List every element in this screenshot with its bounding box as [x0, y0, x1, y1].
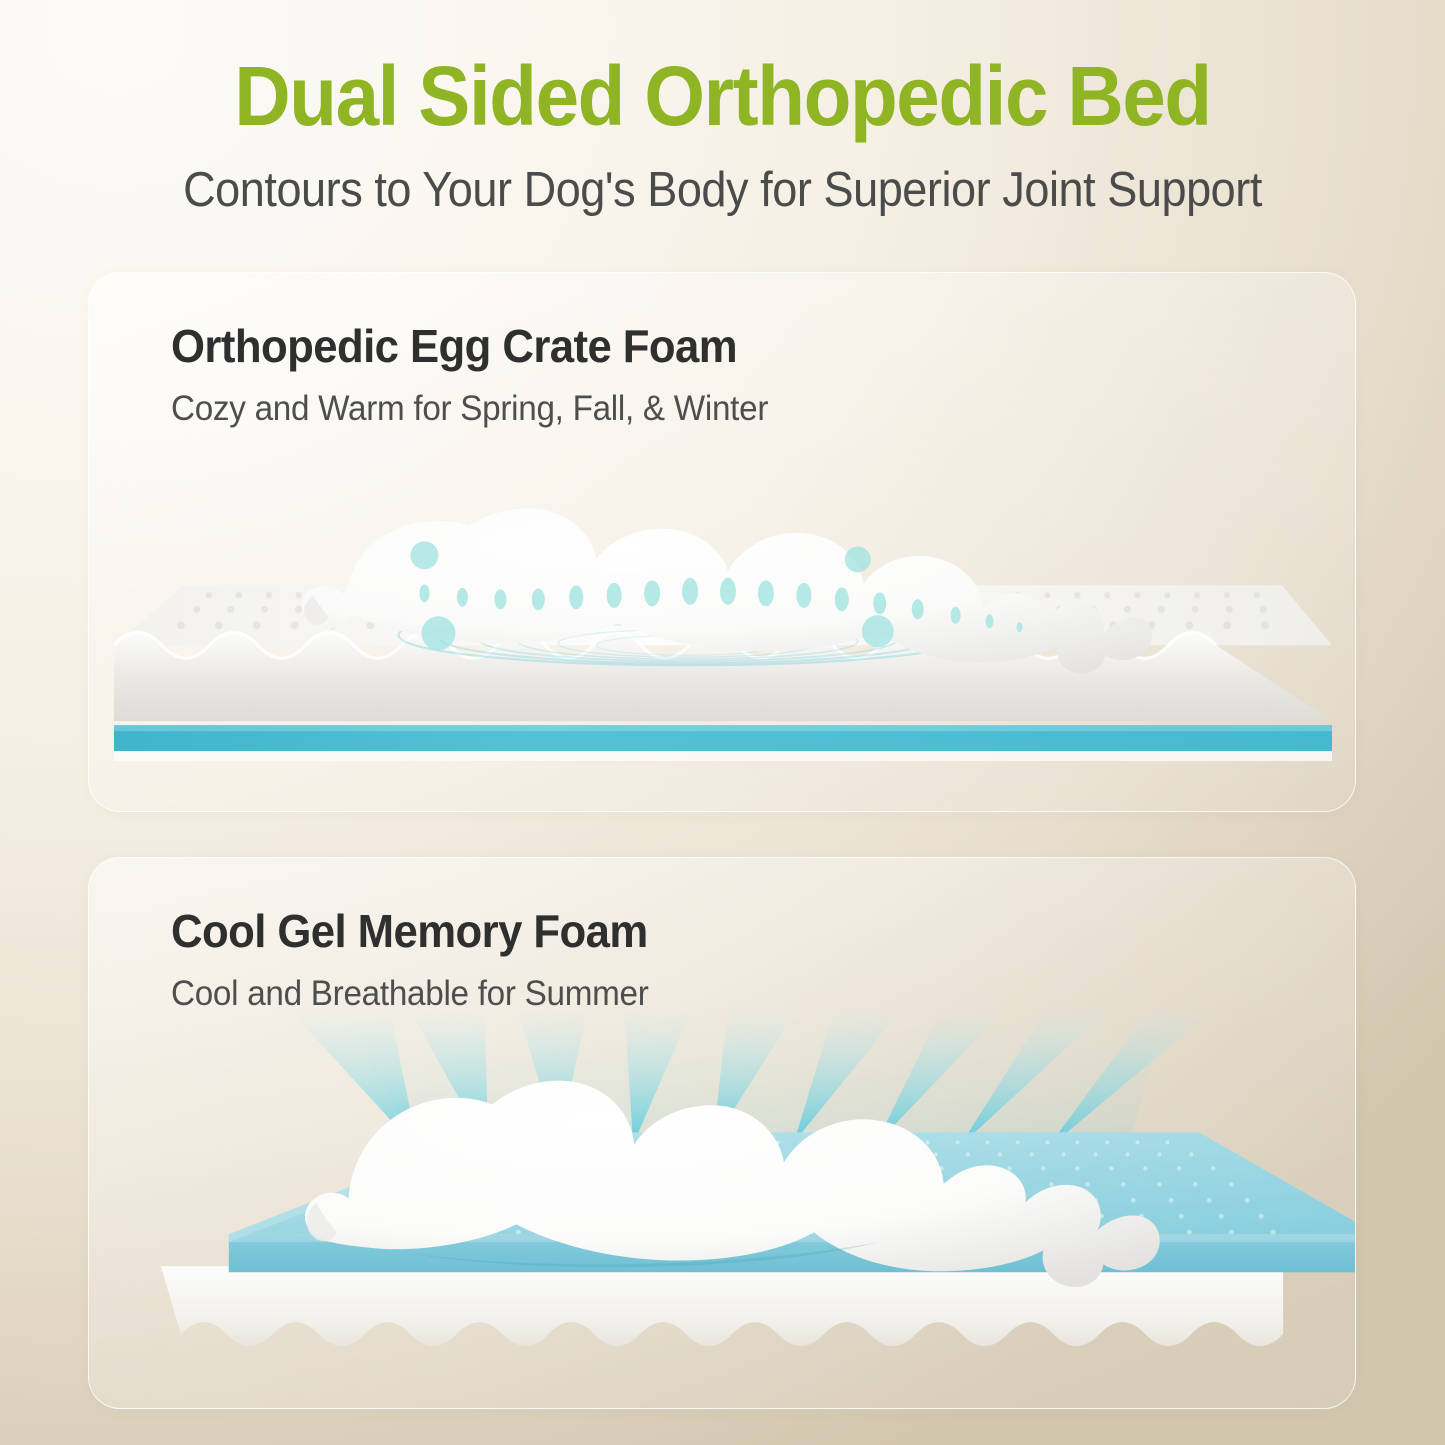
card-heading-group-cool-gel: Cool Gel Memory Foam Cool and Breathable…	[171, 904, 674, 1014]
card-title-egg-crate: Orthopedic Egg Crate Foam	[171, 319, 768, 373]
card-title-cool-gel: Cool Gel Memory Foam	[171, 904, 649, 958]
card-heading-group-egg-crate: Orthopedic Egg Crate Foam Cozy and Warm …	[171, 319, 800, 429]
page-title: Dual Sided Orthopedic Bed	[51, 52, 1395, 140]
teal-base-strip	[114, 725, 1332, 751]
egg-crate-foam-with-dog-illustration	[89, 467, 1355, 797]
card-subtitle-egg-crate: Cozy and Warm for Spring, Fall, & Winter	[171, 389, 768, 429]
egg-crate-foam-base	[161, 1266, 1283, 1346]
feature-card-egg-crate: Orthopedic Egg Crate Foam Cozy and Warm …	[88, 272, 1356, 812]
feature-card-cool-gel: Cool Gel Memory Foam Cool and Breathable…	[88, 857, 1356, 1409]
page-subtitle: Contours to Your Dog's Body for Superior…	[58, 162, 1387, 218]
cool-gel-memory-foam-with-dog-illustration	[89, 1004, 1355, 1404]
infographic-page: Dual Sided Orthopedic Bed Contours to Yo…	[0, 0, 1445, 1445]
header: Dual Sided Orthopedic Bed Contours to Yo…	[0, 52, 1445, 218]
